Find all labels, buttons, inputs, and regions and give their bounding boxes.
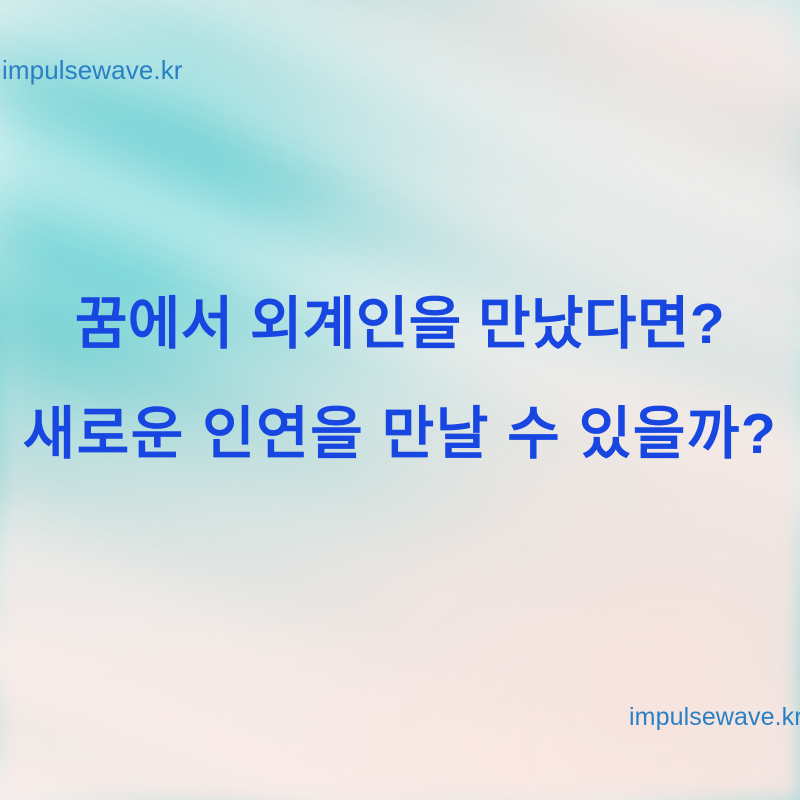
headline-block: 꿈에서 외계인을 만났다면? 새로운 인연을 만날 수 있을까? xyxy=(0,296,800,463)
headline-line-1: 꿈에서 외계인을 만났다면? xyxy=(0,296,800,353)
thumbnail-card: impulsewave.kr 꿈에서 외계인을 만났다면? 새로운 인연을 만날… xyxy=(0,0,800,800)
watermark-top-left: impulsewave.kr xyxy=(2,55,183,86)
watermark-bottom-right: impulsewave.kr xyxy=(629,703,800,732)
headline-line-2: 새로운 인연을 만날 수 있을까? xyxy=(0,406,800,463)
